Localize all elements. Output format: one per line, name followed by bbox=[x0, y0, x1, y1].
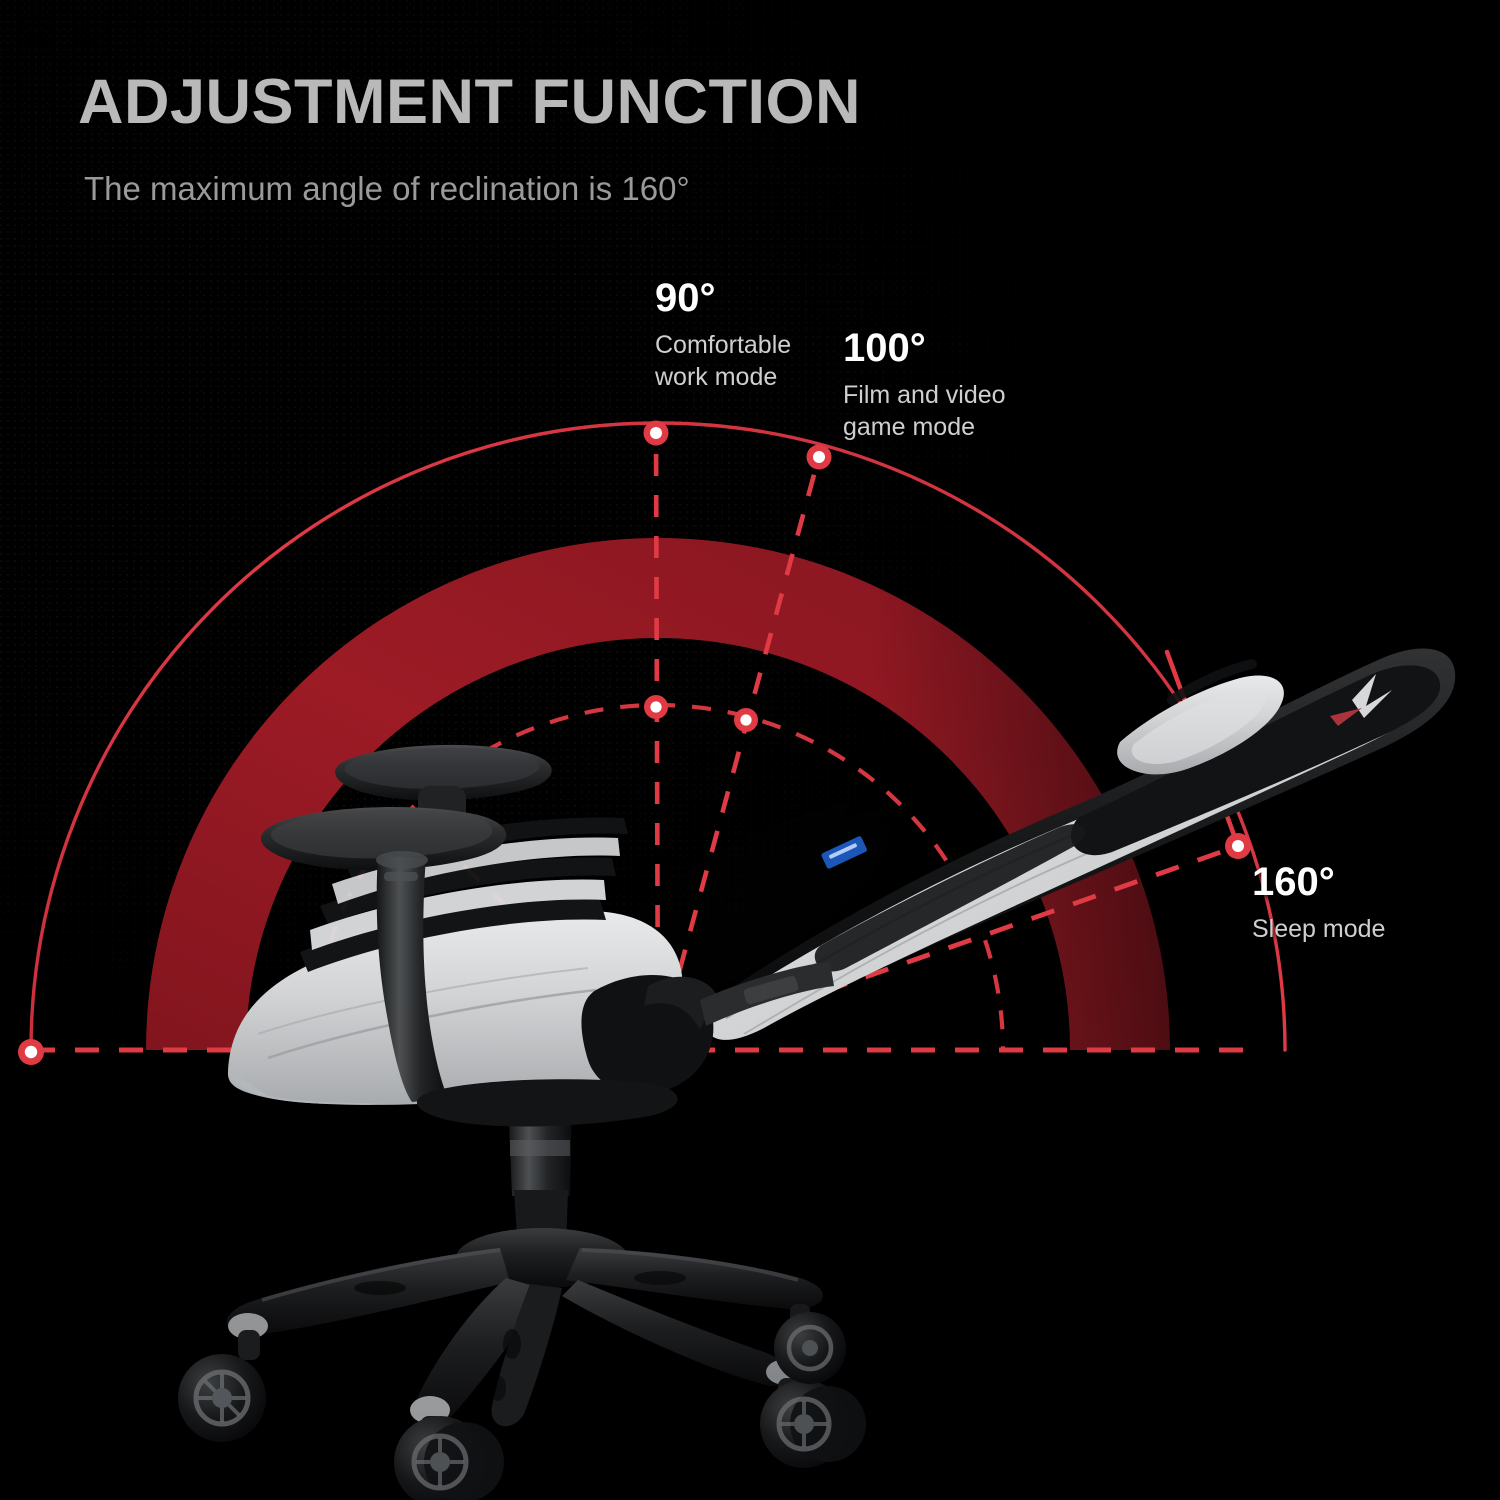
callout-100-description: Film and video game mode bbox=[843, 379, 1006, 443]
chair-base-star bbox=[227, 1228, 823, 1426]
brand-tag bbox=[821, 835, 868, 869]
chair-gas-lift-cylinder bbox=[417, 1079, 678, 1252]
chair-recline-mechanism bbox=[581, 962, 834, 1094]
caster-rear-right bbox=[774, 1304, 846, 1384]
callout-90-description: Comfortable work mode bbox=[655, 329, 791, 393]
callout-160: 160° Sleep mode bbox=[1252, 862, 1385, 945]
callout-160-description: Sleep mode bbox=[1252, 913, 1385, 945]
caster-front bbox=[394, 1416, 504, 1500]
caster-right bbox=[760, 1378, 866, 1468]
callout-100: 100° Film and video game mode bbox=[843, 328, 1006, 443]
callout-160-angle: 160° bbox=[1252, 862, 1385, 902]
callout-100-angle: 100° bbox=[843, 328, 1006, 368]
caster-left bbox=[178, 1330, 266, 1442]
callout-90: 90° Comfortable work mode bbox=[655, 278, 791, 393]
gaming-chair-illustration bbox=[0, 0, 1500, 1500]
infographic-canvas: ADJUSTMENT FUNCTION The maximum angle of… bbox=[0, 0, 1500, 1500]
callout-90-angle: 90° bbox=[655, 278, 791, 318]
